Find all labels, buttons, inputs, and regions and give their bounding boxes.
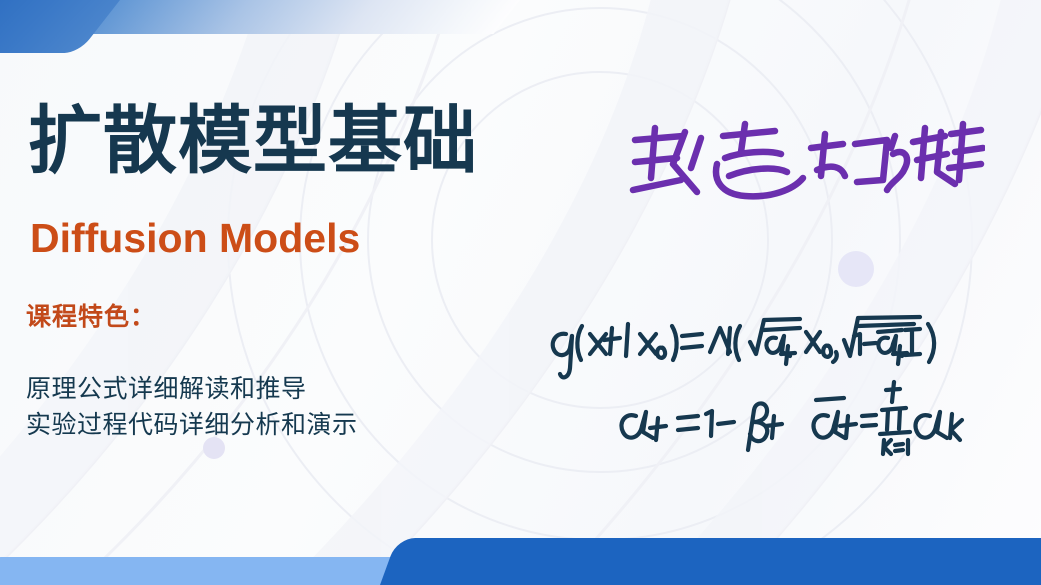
feature-item: 实验过程代码详细分析和演示 <box>26 408 358 444</box>
page-subtitle-english: Diffusion Models <box>30 218 360 259</box>
background-arc-pattern <box>0 0 1041 585</box>
page-title-chinese: 扩散模型基础 <box>28 104 478 178</box>
feature-heading: 课程特色： <box>26 305 156 330</box>
feature-item: 原理公式详细解读和推导 <box>26 372 358 408</box>
handwritten-brand <box>625 118 985 213</box>
feature-list: 原理公式详细解读和推导 实验过程代码详细分析和演示 <box>26 372 358 443</box>
decorative-dot <box>838 251 874 287</box>
handwritten-formulas <box>548 312 1018 457</box>
bottom-right-blue-block <box>380 538 1041 585</box>
slide-canvas: 扩散模型基础 Diffusion Models 课程特色： 原理公式详细解读和推… <box>0 0 1041 585</box>
